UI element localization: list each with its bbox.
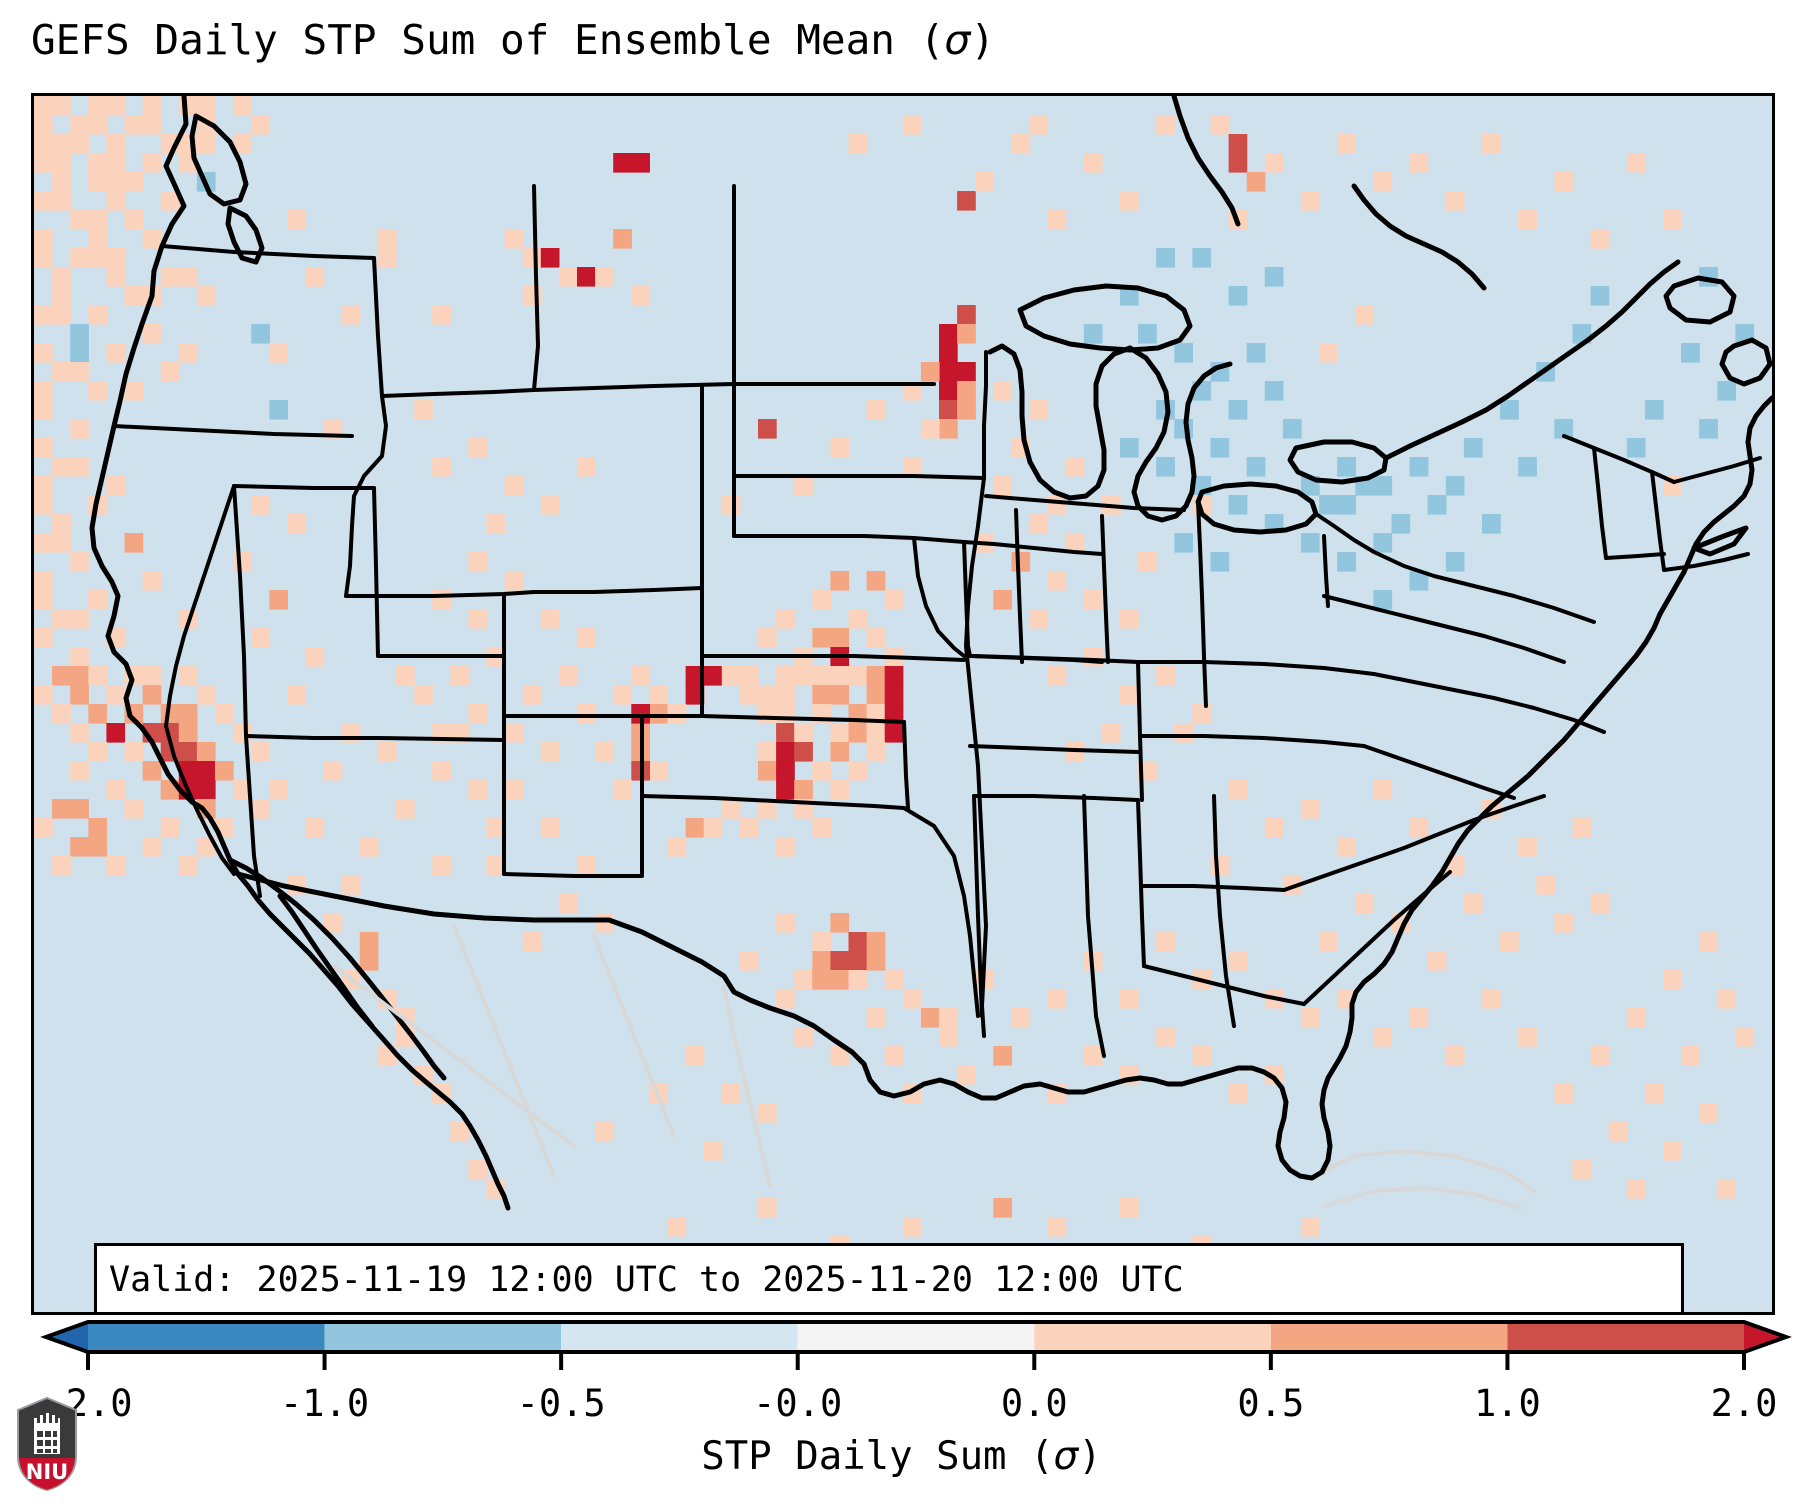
heatmap-cell [1030, 115, 1049, 135]
heatmap-cell [794, 780, 813, 800]
heatmap-cell [758, 628, 777, 648]
heatmap-cell [1355, 894, 1374, 914]
heatmap-cell [812, 628, 849, 648]
map-panel[interactable]: Valid: 2025-11-19 12:00 UTC to 2025-11-2… [31, 93, 1775, 1315]
heatmap-cell [758, 761, 777, 781]
heatmap-cell [269, 343, 288, 363]
heatmap-cell [1337, 837, 1356, 857]
heatmap-cell [161, 742, 198, 762]
heatmap-cell [143, 229, 162, 249]
heatmap-cell [867, 951, 886, 971]
heatmap-cell [921, 1008, 940, 1028]
heatmap-cell [52, 609, 89, 629]
heatmap-cell [1482, 989, 1501, 1009]
heatmap-cell [1482, 134, 1501, 154]
heatmap-cell [1301, 1008, 1320, 1028]
heatmap-cell [939, 1027, 958, 1047]
heatmap-cell [432, 305, 451, 325]
heatmap-cell [758, 742, 777, 762]
heatmap-cell [88, 666, 107, 686]
colorbar-over-arrow [1744, 1322, 1786, 1352]
heatmap-cell [70, 115, 107, 135]
heatmap-cell [1138, 552, 1157, 572]
heatmap-cell [251, 628, 270, 648]
heatmap-cell [197, 286, 216, 306]
heatmap-cell [812, 818, 831, 838]
heatmap-cell [613, 685, 632, 705]
heatmap-cell [577, 628, 596, 648]
heatmap-cell [1211, 552, 1230, 572]
heatmap-cell [1428, 495, 1447, 515]
heatmap-cell [1373, 1027, 1392, 1047]
heatmap-cell [686, 1046, 705, 1066]
heatmap-cell [704, 1141, 723, 1161]
heatmap-cell [1591, 894, 1610, 914]
heatmap-cell [812, 970, 831, 990]
colorbar[interactable] [0, 1316, 1803, 1376]
heatmap-cell [957, 381, 976, 401]
heatmap-cell [1373, 780, 1392, 800]
heatmap-cell [1247, 457, 1266, 477]
heatmap-cell [1102, 723, 1121, 743]
heatmap-cell [993, 1198, 1012, 1218]
heatmap-cell [378, 742, 397, 762]
heatmap-cell [758, 1198, 777, 1218]
heatmap-cell [1265, 267, 1284, 287]
heatmap-cell [233, 96, 252, 116]
heatmap-cell [505, 780, 524, 800]
heatmap-cell [1301, 533, 1320, 553]
heatmap-cell [704, 666, 723, 686]
heatmap-cell [867, 400, 886, 420]
heatmap-cell [179, 723, 198, 743]
heatmap-cell [1609, 1122, 1628, 1142]
heatmap-cell [197, 742, 216, 762]
heatmap-cell [34, 153, 71, 173]
heatmap-cell [794, 742, 813, 762]
heatmap-cell [1337, 552, 1356, 572]
heatmap-cell [106, 343, 125, 363]
heatmap-cell [1573, 1160, 1592, 1180]
heatmap-cell [34, 476, 53, 515]
heatmap-cell [1283, 419, 1302, 439]
heatmap-cell [1048, 1217, 1067, 1237]
heatmap-cell [1591, 286, 1610, 306]
heatmap-cell [993, 1046, 1012, 1066]
heatmap-cell [722, 495, 741, 515]
heatmap-cell [1301, 799, 1320, 819]
heatmap-cell [1518, 210, 1537, 230]
heatmap-cell [125, 381, 144, 401]
heatmap-cell [1156, 1027, 1175, 1047]
heatmap-cell [125, 172, 144, 192]
heatmap-cell [1301, 191, 1320, 211]
heatmap-cell [1120, 191, 1139, 211]
heatmap-cell [830, 742, 849, 762]
heatmap-cell [1591, 1046, 1610, 1066]
heatmap-cell [233, 723, 252, 743]
heatmap-cell [215, 704, 234, 724]
heatmap-cell [432, 457, 451, 477]
heatmap-cell [577, 704, 596, 724]
heatmap-cell [939, 362, 958, 382]
heatmap-cell [88, 229, 107, 249]
heatmap-cell [306, 267, 325, 287]
heatmap-cell [1681, 343, 1700, 363]
heatmap-cell [143, 837, 162, 857]
heatmap-cell [1410, 457, 1429, 477]
heatmap-cell [812, 951, 831, 971]
heatmap-cell [269, 780, 288, 800]
heatmap-cell [1373, 172, 1392, 192]
heatmap-cell [125, 799, 144, 819]
heatmap-cell [758, 704, 795, 724]
heatmap-cell [849, 932, 868, 952]
heatmap-cell [1681, 1046, 1700, 1066]
heatmap-cell [867, 628, 886, 648]
heatmap-cell [34, 96, 71, 116]
heatmap-cell [1229, 286, 1248, 306]
heatmap-cell [52, 267, 71, 306]
heatmap-cell [1355, 305, 1374, 325]
heatmap-cell [541, 609, 560, 629]
heatmap-cell [1717, 1179, 1736, 1199]
colorbar-tick-labels: -2.0-1.0-0.5-0.00.00.51.02.0 [0, 1382, 1803, 1428]
heatmap-cell [306, 818, 325, 838]
heatmap-cell [52, 666, 89, 686]
heatmap-cell [161, 267, 180, 287]
heatmap-cell [939, 324, 958, 363]
heatmap-cell [287, 685, 306, 705]
colorbar-tick-label: 2.0 [1711, 1382, 1778, 1425]
heatmap-cell [1699, 932, 1718, 952]
heatmap-cell [867, 685, 886, 705]
heatmap-cell [88, 818, 107, 838]
heatmap-cell [957, 400, 976, 420]
figure-root: GEFS Daily STP Sum of Ensemble Mean (σ) [0, 0, 1803, 1506]
heatmap-cell [541, 742, 560, 762]
heatmap-cell [505, 476, 524, 496]
colorbar-ticks [88, 1352, 1744, 1370]
heatmap-cell [88, 590, 107, 610]
sigma-symbol-colorbar: σ [1054, 1434, 1079, 1479]
colorbar-segment [1507, 1322, 1744, 1352]
heatmap-cell [34, 229, 53, 268]
logo-text: NIU [26, 1460, 68, 1484]
heatmap-cell [378, 248, 397, 268]
heatmap-cell [1120, 609, 1139, 629]
heatmap-cell [1229, 1084, 1248, 1104]
heatmap-cell [939, 1008, 958, 1028]
heatmap-cell [1301, 1217, 1320, 1237]
info-line-run: Run: 2025-10-26 00:00 UTC [109, 1312, 678, 1315]
colorbar-tick-label: 0.0 [1001, 1382, 1068, 1425]
heatmap-cell [251, 742, 270, 762]
colorbar-tick-label: 1.0 [1474, 1382, 1541, 1425]
heatmap-cell [939, 381, 958, 401]
heatmap-cell [523, 932, 542, 952]
heatmap-cell [52, 799, 89, 819]
heatmap-cell [867, 932, 886, 952]
heatmap-cell [1048, 210, 1067, 230]
heatmap-cell [1048, 989, 1067, 1009]
heatmap-cell [1663, 970, 1682, 990]
colorbar-label-text: STP Daily Sum ( [701, 1434, 1053, 1479]
heatmap-cell [360, 932, 379, 971]
heatmap-cell [1735, 1027, 1754, 1047]
heatmap-cell [1627, 153, 1646, 173]
heatmap-cell [1048, 666, 1067, 686]
heatmap-cell [1229, 400, 1248, 420]
heatmap-cell [468, 438, 487, 458]
heatmap-cell [957, 324, 976, 344]
heatmap-cell [1156, 115, 1175, 135]
heatmap-cell [740, 818, 759, 838]
heatmap-cell [812, 685, 849, 705]
heatmap-cell [776, 742, 795, 762]
colorbar-tick-label: 0.5 [1237, 1382, 1304, 1425]
heatmap-cell [1699, 1103, 1718, 1123]
heatmap-cell [269, 590, 288, 610]
heatmap-cell [1211, 115, 1230, 135]
heatmap-cell [849, 723, 868, 743]
heatmap-cell [88, 381, 107, 401]
heatmap-cell [143, 324, 162, 344]
heatmap-cell [1084, 324, 1103, 344]
heatmap-cell [776, 989, 795, 1009]
heatmap-cell [70, 647, 89, 667]
heatmap-cell [34, 571, 53, 610]
heatmap-cell [70, 419, 89, 439]
heatmap-cell [812, 932, 831, 952]
heatmap-cell [776, 666, 849, 686]
heatmap-cell [1482, 514, 1501, 534]
heatmap-cell [450, 1122, 469, 1142]
heatmap-cell [1120, 438, 1139, 458]
heatmap-cell [360, 837, 379, 857]
heatmap-cell [1084, 590, 1103, 610]
heatmap-cell [106, 685, 125, 705]
heatmap-cell [577, 856, 596, 876]
heatmap-cell [34, 685, 53, 705]
heatmap-cell [993, 381, 1012, 401]
heatmap-cell [1192, 704, 1211, 724]
heatmap-cell [903, 989, 922, 1009]
heatmap-cell [649, 761, 668, 781]
heatmap-cell [1192, 248, 1211, 268]
heatmap-cell [34, 381, 53, 420]
heatmap-cell [70, 723, 89, 743]
heatmap-cell [1174, 343, 1193, 363]
heatmap-cell [179, 666, 198, 686]
heatmap-cell [487, 514, 506, 534]
heatmap-cell [1084, 1046, 1103, 1066]
heatmap-cell [179, 856, 198, 876]
heatmap-cell [1717, 381, 1736, 401]
heatmap-cell [70, 324, 89, 363]
heatmap-cell [1120, 1198, 1139, 1218]
heatmap-cell [106, 191, 125, 211]
heatmap-cell [1030, 609, 1049, 629]
heatmap-cell [812, 590, 831, 610]
heatmap-cell [106, 248, 125, 268]
heatmap-cell [849, 609, 868, 629]
heatmap-cell [722, 1084, 741, 1104]
heatmap-cell [197, 685, 216, 705]
heatmap-cell [1011, 134, 1030, 154]
heatmap-cell [776, 780, 795, 800]
heatmap-cell [957, 191, 976, 211]
heatmap-cell [1410, 818, 1429, 838]
heatmap-cell [668, 1217, 687, 1237]
colorbar-axis-label: STP Daily Sum (σ) [0, 1434, 1803, 1479]
colorbar-segment [798, 1322, 1035, 1352]
heatmap-cell [1717, 989, 1736, 1009]
heatmap-cell [830, 970, 849, 990]
heatmap-cell [1410, 153, 1429, 173]
heatmap-cell [1573, 818, 1592, 838]
heatmap-cell [1627, 438, 1646, 458]
heatmap-cell [613, 153, 632, 173]
colorbar-segments [46, 1322, 1786, 1352]
heatmap-cell [1627, 1008, 1646, 1028]
heatmap-cell [1192, 1046, 1211, 1066]
heatmap-cell [1319, 495, 1356, 515]
heatmap-cell [1699, 419, 1718, 439]
heatmap-cell [143, 571, 162, 591]
heatmap-cell [161, 818, 180, 838]
colorbar-tick-label: -0.0 [753, 1382, 842, 1425]
heatmap-cell [1030, 400, 1049, 420]
heatmap-cell [88, 172, 125, 192]
heatmap-cell [1265, 818, 1284, 838]
heatmap-cell [1030, 514, 1049, 534]
heatmap-cell [559, 666, 578, 686]
heatmap-cell [867, 742, 886, 762]
heatmap-cell [468, 780, 487, 800]
colorbar-segment [1271, 1322, 1508, 1352]
heatmap-cell [885, 723, 904, 743]
heatmap-cell [1446, 191, 1465, 211]
heatmap-cell [1211, 438, 1230, 458]
heatmap-cell [541, 818, 560, 838]
heatmap-cell [106, 780, 125, 800]
heatmap-cell [414, 685, 433, 705]
heatmap-cell [1373, 590, 1392, 610]
heatmap-cell [179, 267, 198, 287]
heatmap-cell [1211, 856, 1230, 876]
heatmap-cell [577, 267, 596, 287]
heatmap-cell [1120, 989, 1139, 1009]
heatmap-cell [903, 115, 922, 135]
heatmap-cell [812, 761, 831, 781]
heatmap-cell [70, 552, 89, 572]
heatmap-cell [613, 780, 632, 800]
heatmap-cell [450, 666, 469, 686]
heatmap-cell [468, 552, 487, 572]
heatmap-cell [34, 438, 53, 458]
heatmap-cell [215, 761, 234, 781]
heatmap-cell [1518, 837, 1537, 857]
heatmap-cell [794, 970, 813, 990]
heatmap-cell [1156, 248, 1175, 268]
heatmap-cell [1392, 514, 1411, 534]
heatmap-cell [432, 761, 451, 781]
heatmap-cell [34, 818, 53, 838]
heatmap-cell [143, 685, 162, 705]
heatmap-cell [505, 229, 524, 249]
heatmap-cell [649, 685, 668, 705]
heatmap-cell [686, 818, 705, 838]
heatmap-cell [106, 267, 125, 287]
heatmap-cell [88, 153, 125, 173]
heatmap-cell [1337, 134, 1356, 154]
heatmap-cell [975, 172, 994, 192]
heatmap-cell [1446, 1046, 1465, 1066]
heatmap-cell [1174, 533, 1193, 553]
heatmap-cell [70, 761, 89, 781]
heatmap-cell [921, 419, 940, 439]
page-title: GEFS Daily STP Sum of Ensemble Mean (σ) [31, 16, 995, 64]
colorbar-segment [325, 1322, 562, 1352]
heatmap-cell [631, 153, 650, 173]
heatmap-cell [1011, 1008, 1030, 1028]
heatmap-cell [631, 286, 650, 306]
heatmap-cell [957, 305, 976, 325]
heatmap-cell [468, 609, 487, 629]
heatmap-cell [1536, 875, 1555, 895]
heatmap-cell [1554, 172, 1573, 192]
heatmap-cell [505, 723, 524, 743]
heatmap-cell [432, 590, 451, 610]
heatmap-cell [1048, 571, 1067, 591]
niu-logo[interactable]: NIU [16, 1396, 78, 1492]
heatmap-cell [849, 761, 868, 781]
heatmap-cell [1156, 457, 1175, 477]
heatmap-cell [993, 476, 1012, 496]
heatmap-cell [251, 115, 270, 135]
info-line-valid: Valid: 2025-11-19 12:00 UTC to 2025-11-2… [109, 1260, 1184, 1300]
heatmap-cell [1591, 229, 1610, 249]
heatmap-cell [269, 400, 288, 420]
heatmap-cell [505, 571, 524, 591]
heatmap-cell [34, 305, 71, 325]
heatmap-cell [595, 1122, 614, 1142]
heatmap-cell [867, 571, 886, 591]
heatmap-cell [143, 761, 162, 781]
heatmap-cell [541, 495, 560, 515]
heatmap-cell [1645, 400, 1664, 420]
heatmap-cell [1373, 533, 1392, 553]
heatmap-cell [106, 723, 125, 743]
heatmap-cell [794, 723, 813, 743]
heatmap-cell [1500, 932, 1519, 952]
heatmap-cell [34, 628, 53, 648]
heatmap-cell [1229, 780, 1248, 800]
heatmap-cell [432, 856, 451, 876]
heatmap-cell [577, 457, 596, 477]
heatmap-cell [1174, 723, 1193, 743]
heatmap-cell [125, 742, 144, 762]
heatmap-cell [1156, 932, 1175, 952]
heatmap-cell [595, 742, 614, 762]
heatmap-cell [523, 685, 542, 705]
heatmap-cell [776, 609, 795, 629]
heatmap-cell [849, 970, 868, 990]
heatmap-cell [849, 951, 868, 971]
heatmap-cell [939, 419, 958, 439]
heatmap-cell [1645, 1084, 1664, 1104]
